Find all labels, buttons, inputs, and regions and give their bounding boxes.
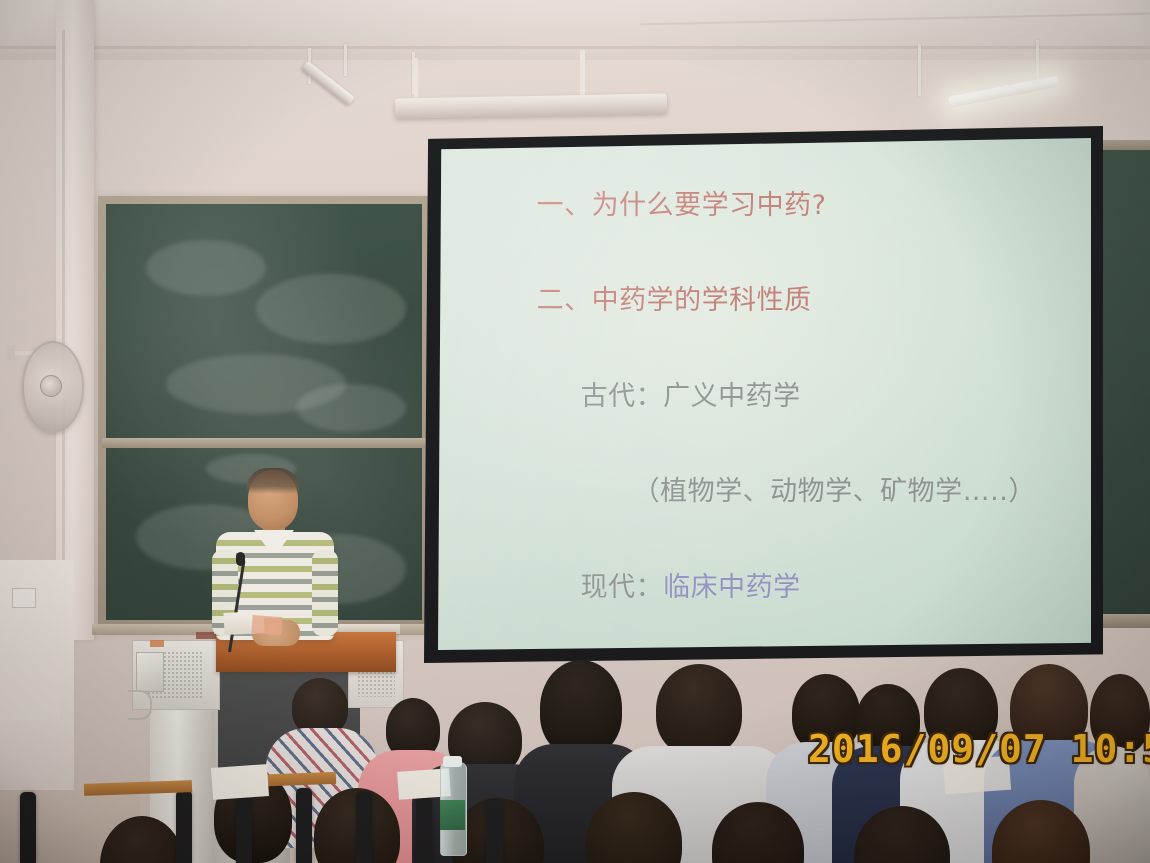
- classroom-photo: 一、为什么要学习中药? 二、中药学的学科性质 古代：广义中药学 （植物学、动物学…: [0, 0, 1150, 863]
- blackboard-divider: [102, 438, 426, 448]
- slide-line-2: 二、中药学的学科性质: [464, 260, 1075, 343]
- wall-pillar-edge: [62, 30, 65, 630]
- slide-line-2-seg-0: 二、: [537, 285, 592, 316]
- lamp-rod: [918, 44, 921, 96]
- water-bottle-label: [440, 800, 465, 830]
- student-head: [100, 816, 184, 863]
- slide-content: 一、为什么要学习中药? 二、中药学的学科性质 古代：广义中药学 （植物学、动物学…: [438, 138, 1091, 650]
- microphone-icon: [236, 552, 245, 566]
- projector-screen: 一、为什么要学习中药? 二、中药学的学科性质 古代：广义中药学 （植物学、动物学…: [438, 138, 1091, 650]
- fan-hub: [40, 375, 62, 397]
- student-head: [540, 660, 622, 756]
- slide-line-3-seg-0: 古代：广义中药学: [581, 381, 801, 412]
- slide-line-2-seg-1: 中药学的学科性质: [592, 285, 812, 316]
- chair-back: [356, 792, 372, 863]
- lecture-notes-secondary: [251, 615, 282, 635]
- slide-line-5: 现代：临床中药学: [464, 546, 1075, 629]
- ceiling-seam: [0, 46, 1150, 49]
- lecturer-right-arm: [312, 550, 338, 636]
- slide-line-1-seg-0: 一、: [537, 190, 592, 221]
- open-notebook: [211, 764, 269, 800]
- fan-bracket: [6, 345, 15, 360]
- slide-line-1-seg-1: 为什么要学习中药?: [592, 190, 827, 221]
- camera-timestamp: 2016/09/07 10:56: [808, 727, 1150, 771]
- lecturer-hair: [247, 468, 299, 494]
- slide-line-3: 古代：广义中药学: [464, 355, 1075, 438]
- slide-line-4-seg-0: （植物学、动物学、矿物学…..）: [633, 476, 1036, 507]
- chair-back: [176, 790, 192, 863]
- lamp-rod: [344, 44, 347, 76]
- slide-line-5-seg-0: 现代：: [581, 572, 664, 603]
- chair-back: [236, 790, 252, 863]
- slide-line-5-seg-1: 临床中药学: [663, 572, 801, 603]
- wall-switch[interactable]: [12, 588, 36, 608]
- slide-line-1: 一、为什么要学习中药?: [464, 164, 1075, 247]
- screen-mount-rod: [414, 58, 418, 100]
- student-head: [656, 664, 742, 756]
- chair-back: [416, 796, 432, 863]
- slide-line-4: （植物学、动物学、矿物学…..）: [464, 451, 1075, 534]
- chair-back: [296, 788, 312, 863]
- water-bottle-cap: [443, 756, 462, 767]
- ceiling: [0, 0, 1150, 60]
- chair-back: [20, 792, 36, 863]
- chair-back: [486, 800, 503, 863]
